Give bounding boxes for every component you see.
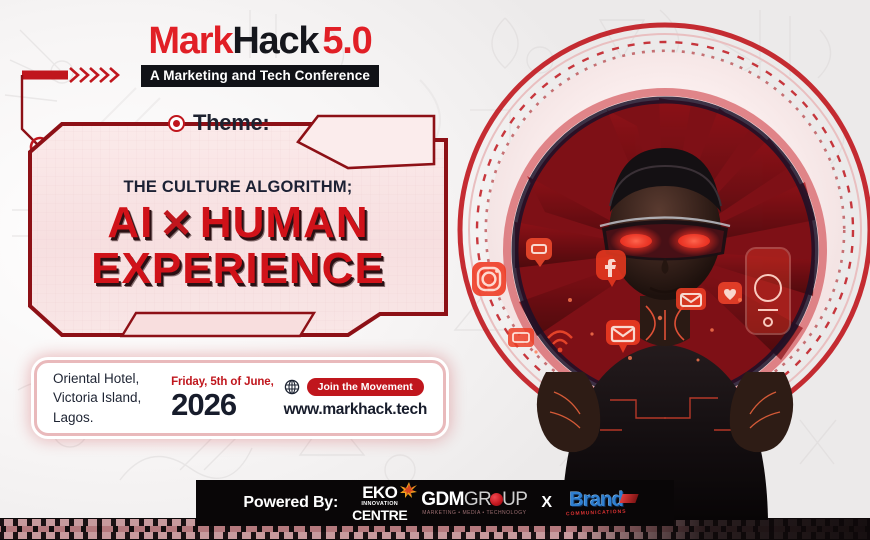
sponsor-separator: X bbox=[541, 494, 552, 512]
sponsor-logo-eko: EKO INNOVATION CENTRE bbox=[352, 484, 407, 523]
join-movement-badge[interactable]: Join the Movement bbox=[307, 378, 424, 396]
gdm-light-text-a: GR bbox=[464, 489, 491, 510]
hero-illustration bbox=[450, 0, 870, 520]
theme-content: THE CULTURE ALGORITHM; AI✕HUMAN EXPERIEN… bbox=[28, 178, 448, 290]
eko-line-1: EKO bbox=[352, 484, 407, 501]
theme-human-text: HUMAN bbox=[200, 198, 369, 247]
conference-flyer: MarkHack5.0 A Marketing and Tech Confere… bbox=[0, 0, 870, 540]
sponsors-footer: Powered By: EKO INNOVATION CENTRE GDMGRU… bbox=[196, 480, 674, 526]
sponsor-logo-gdm: GDMGRUP MARKETING • MEDIA • TECHNOLOGY bbox=[421, 490, 527, 516]
theme-ai-text: AI bbox=[107, 198, 153, 247]
theme-notch-top-right bbox=[292, 112, 442, 182]
venue-line-2: Victoria Island, bbox=[53, 388, 167, 407]
brand-swipe-accent bbox=[619, 494, 638, 503]
event-info-bar: Oriental Hotel, Victoria Island, Lagos. … bbox=[34, 360, 446, 436]
gdm-bold-text: GDM bbox=[421, 489, 464, 510]
eko-line-3: CENTRE bbox=[352, 508, 407, 522]
brand-name: Brand bbox=[566, 490, 627, 510]
website-url[interactable]: www.markhack.tech bbox=[284, 401, 427, 419]
website-cta-row: Join the Movement bbox=[284, 378, 427, 396]
powered-by-label: Powered By: bbox=[243, 494, 338, 512]
logo-mark-text: Mark bbox=[148, 20, 232, 62]
venue-line-1: Oriental Hotel, bbox=[53, 369, 167, 388]
venue-line-3: Lagos. bbox=[53, 408, 167, 427]
theme-main-line1: AI✕HUMAN bbox=[44, 202, 432, 244]
theme-label-row: Theme: bbox=[168, 110, 269, 136]
gdm-tagline: MARKETING • MEDIA • TECHNOLOGY bbox=[421, 511, 527, 516]
gdm-name: GDMGRUP bbox=[421, 490, 527, 509]
brand-tagline: COMMUNICATIONS bbox=[566, 510, 627, 518]
logo-subtitle: A Marketing and Tech Conference bbox=[141, 65, 379, 87]
theme-label-text: Theme: bbox=[193, 110, 269, 136]
venue-block: Oriental Hotel, Victoria Island, Lagos. bbox=[53, 369, 167, 426]
theme-x-symbol: ✕ bbox=[159, 202, 194, 246]
eko-burst-icon bbox=[400, 481, 418, 499]
date-block: Friday, 5th of June, 2026 bbox=[171, 376, 278, 420]
logo-version-text: 5.0 bbox=[322, 20, 371, 62]
website-block: Join the Movement www.markhack.tech bbox=[284, 378, 427, 419]
bullseye-icon bbox=[168, 115, 185, 132]
theme-main-line2: EXPERIENCE bbox=[44, 248, 432, 290]
event-logo: MarkHack5.0 A Marketing and Tech Confere… bbox=[130, 22, 390, 87]
logo-title: MarkHack5.0 bbox=[130, 22, 390, 60]
sponsor-logo-brand: Brand COMMUNICATIONS bbox=[566, 490, 627, 516]
globe-icon bbox=[284, 379, 300, 395]
theme-notch-bottom bbox=[118, 310, 328, 340]
logo-hack-text: Hack bbox=[232, 20, 318, 62]
date-year-text: 2026 bbox=[171, 389, 278, 420]
gdm-light-text-b: UP bbox=[502, 489, 527, 510]
